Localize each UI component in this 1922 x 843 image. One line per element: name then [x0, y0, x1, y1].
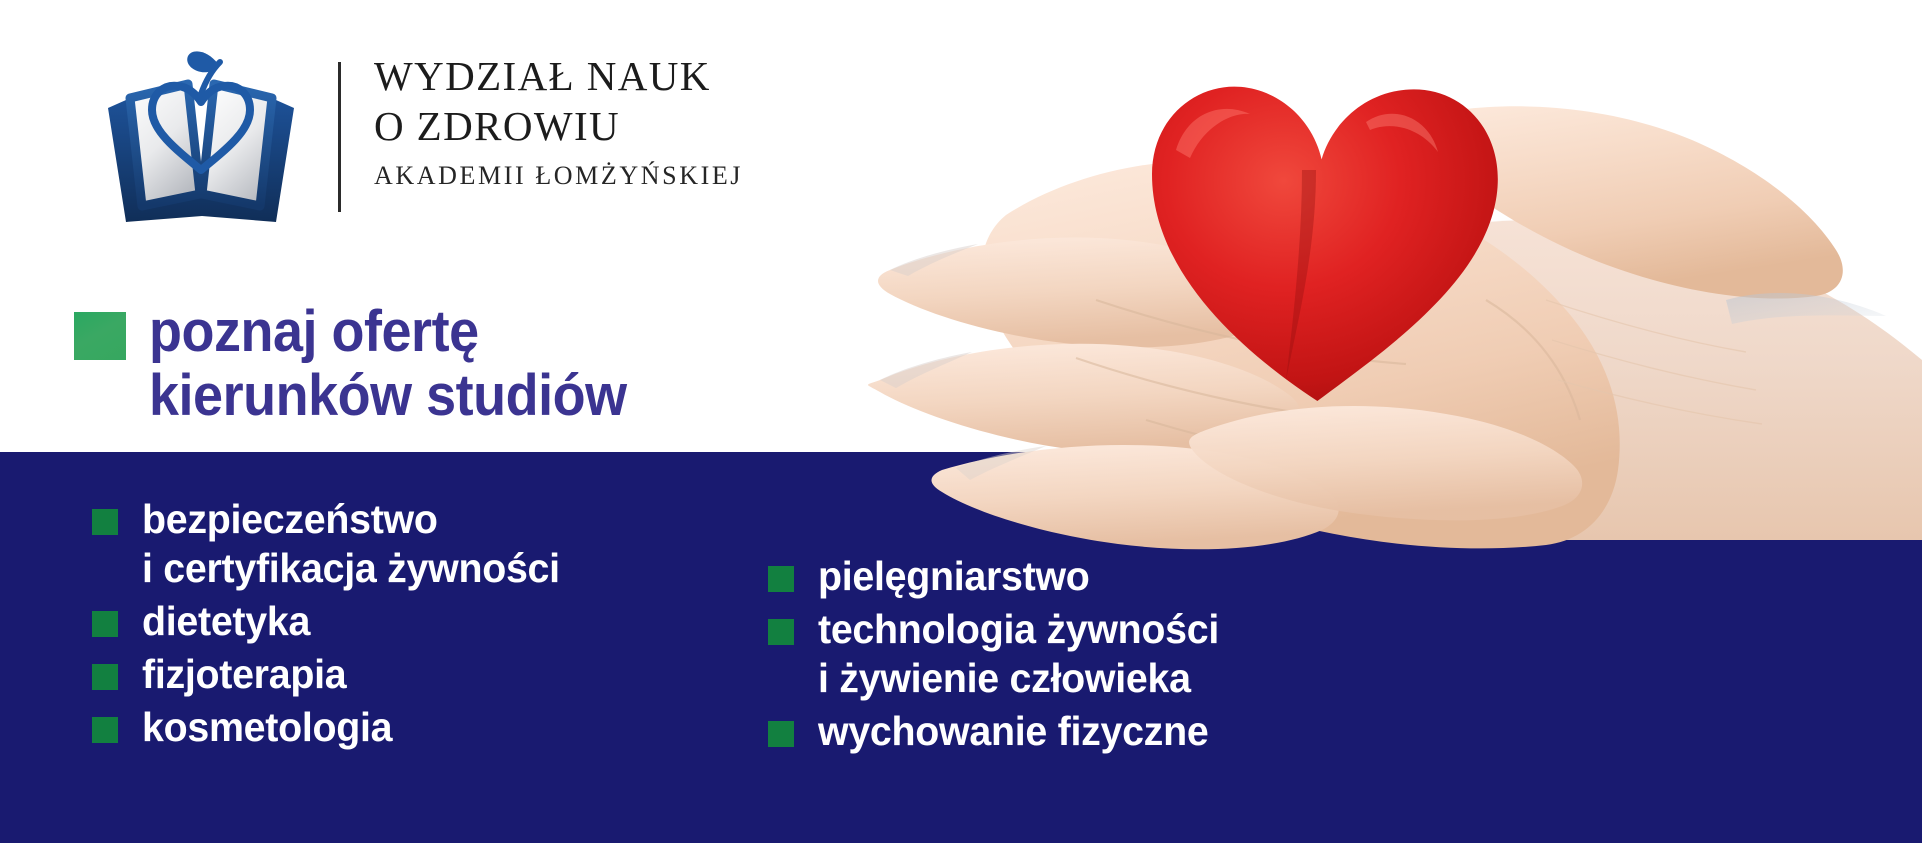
hand-heart-illustration [846, 0, 1922, 560]
course-label: bezpieczeństwo i certyfikacja żywności [142, 495, 689, 593]
headline-text: poznaj ofertę kierunków studiów [149, 300, 627, 428]
list-item[interactable]: bezpieczeństwo i certyfikacja żywności [92, 495, 712, 593]
course-label: technologia żywności i żywienie człowiek… [818, 605, 1384, 703]
course-list-right: pielęgniarstwo technologia żywności i ży… [768, 552, 1408, 760]
course-list-left: bezpieczeństwo i certyfikacja żywności d… [92, 495, 712, 756]
apple-leaf-icon [187, 51, 218, 72]
green-square-bullet-icon [768, 566, 794, 592]
list-item[interactable]: technologia żywności i żywienie człowiek… [768, 605, 1408, 703]
banner-root: WYDZIAŁ NAUK O ZDROWIU AKADEMII ŁOMŻYŃSK… [0, 0, 1922, 843]
wordmark-line-1: WYDZIAŁ NAUK [374, 52, 794, 100]
logo-divider [338, 62, 341, 212]
book-heart-emblem-icon [96, 44, 306, 224]
green-square-bullet-icon [92, 509, 118, 535]
list-item[interactable]: kosmetologia [92, 703, 712, 752]
list-item[interactable]: wychowanie fizyczne [768, 707, 1408, 756]
green-square-bullet-icon [92, 717, 118, 743]
course-label: kosmetologia [142, 703, 689, 752]
course-label: fizjoterapia [142, 650, 689, 699]
headline-line-1: poznaj ofertę [149, 300, 627, 364]
wordmark-line-3: AKADEMII ŁOMŻYŃSKIEJ [374, 160, 794, 192]
green-square-bullet-icon [92, 664, 118, 690]
list-item[interactable]: dietetyka [92, 597, 712, 646]
list-item[interactable]: fizjoterapia [92, 650, 712, 699]
logo-wordmark: WYDZIAŁ NAUK O ZDROWIU AKADEMII ŁOMŻYŃSK… [374, 52, 794, 192]
headline-green-square-icon [74, 312, 126, 360]
green-square-bullet-icon [768, 619, 794, 645]
hand-with-heart-photo [846, 0, 1922, 560]
green-square-bullet-icon [92, 611, 118, 637]
list-item[interactable]: pielęgniarstwo [768, 552, 1408, 601]
headline-line-2: kierunków studiów [149, 364, 627, 428]
wordmark-line-2: O ZDROWIU [374, 102, 794, 150]
emblem-svg [96, 44, 306, 224]
course-label: pielęgniarstwo [818, 552, 1384, 601]
course-label: wychowanie fizyczne [818, 707, 1384, 756]
institution-logo: WYDZIAŁ NAUK O ZDROWIU AKADEMII ŁOMŻYŃSK… [96, 44, 796, 224]
green-square-bullet-icon [768, 721, 794, 747]
course-label: dietetyka [142, 597, 689, 646]
